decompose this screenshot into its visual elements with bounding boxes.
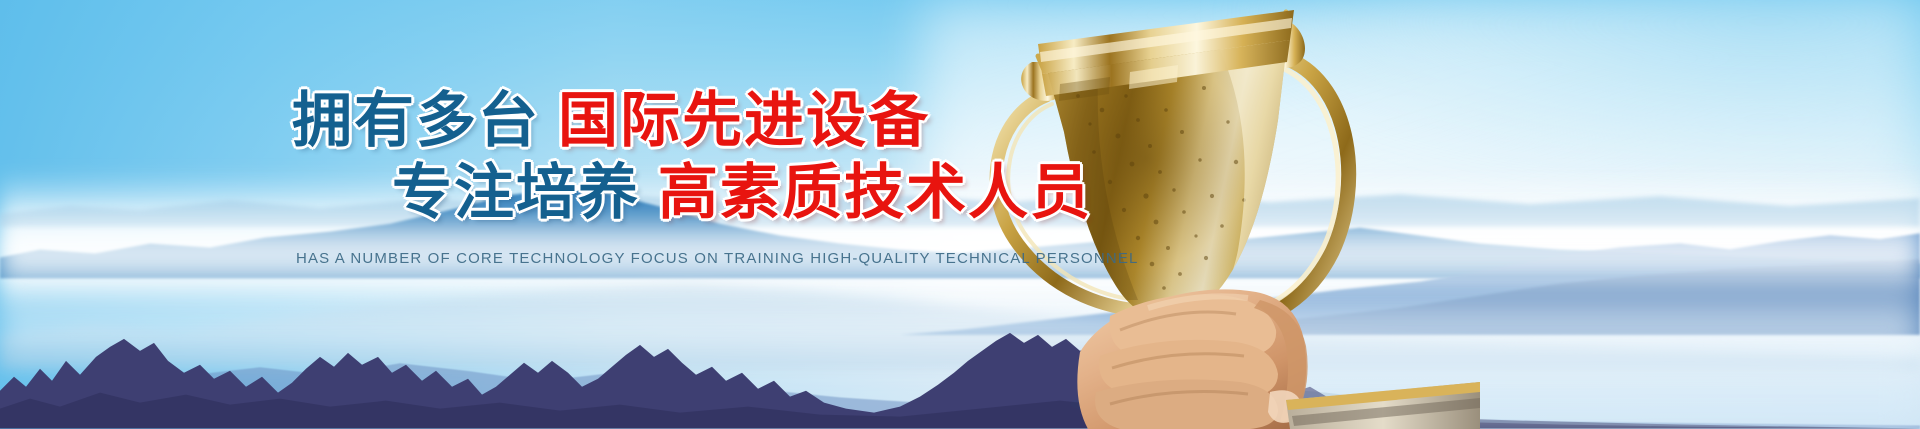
headline-line-2-red: 高素质技术人员 bbox=[658, 144, 1092, 231]
headline-subtitle-english: HAS A NUMBER OF CORE TECHNOLOGY FOCUS ON… bbox=[296, 250, 1139, 267]
headline-line-2-blue: 专注培养 bbox=[392, 144, 640, 231]
headline-block: 拥有多台国际先进设备 专注培养高素质技术人员 HAS A NUMBER OF C… bbox=[0, 0, 1020, 429]
headline-line-2: 专注培养高素质技术人员 bbox=[392, 144, 1092, 231]
hero-banner: 拥有多台国际先进设备 专注培养高素质技术人员 HAS A NUMBER OF C… bbox=[0, 0, 1920, 429]
